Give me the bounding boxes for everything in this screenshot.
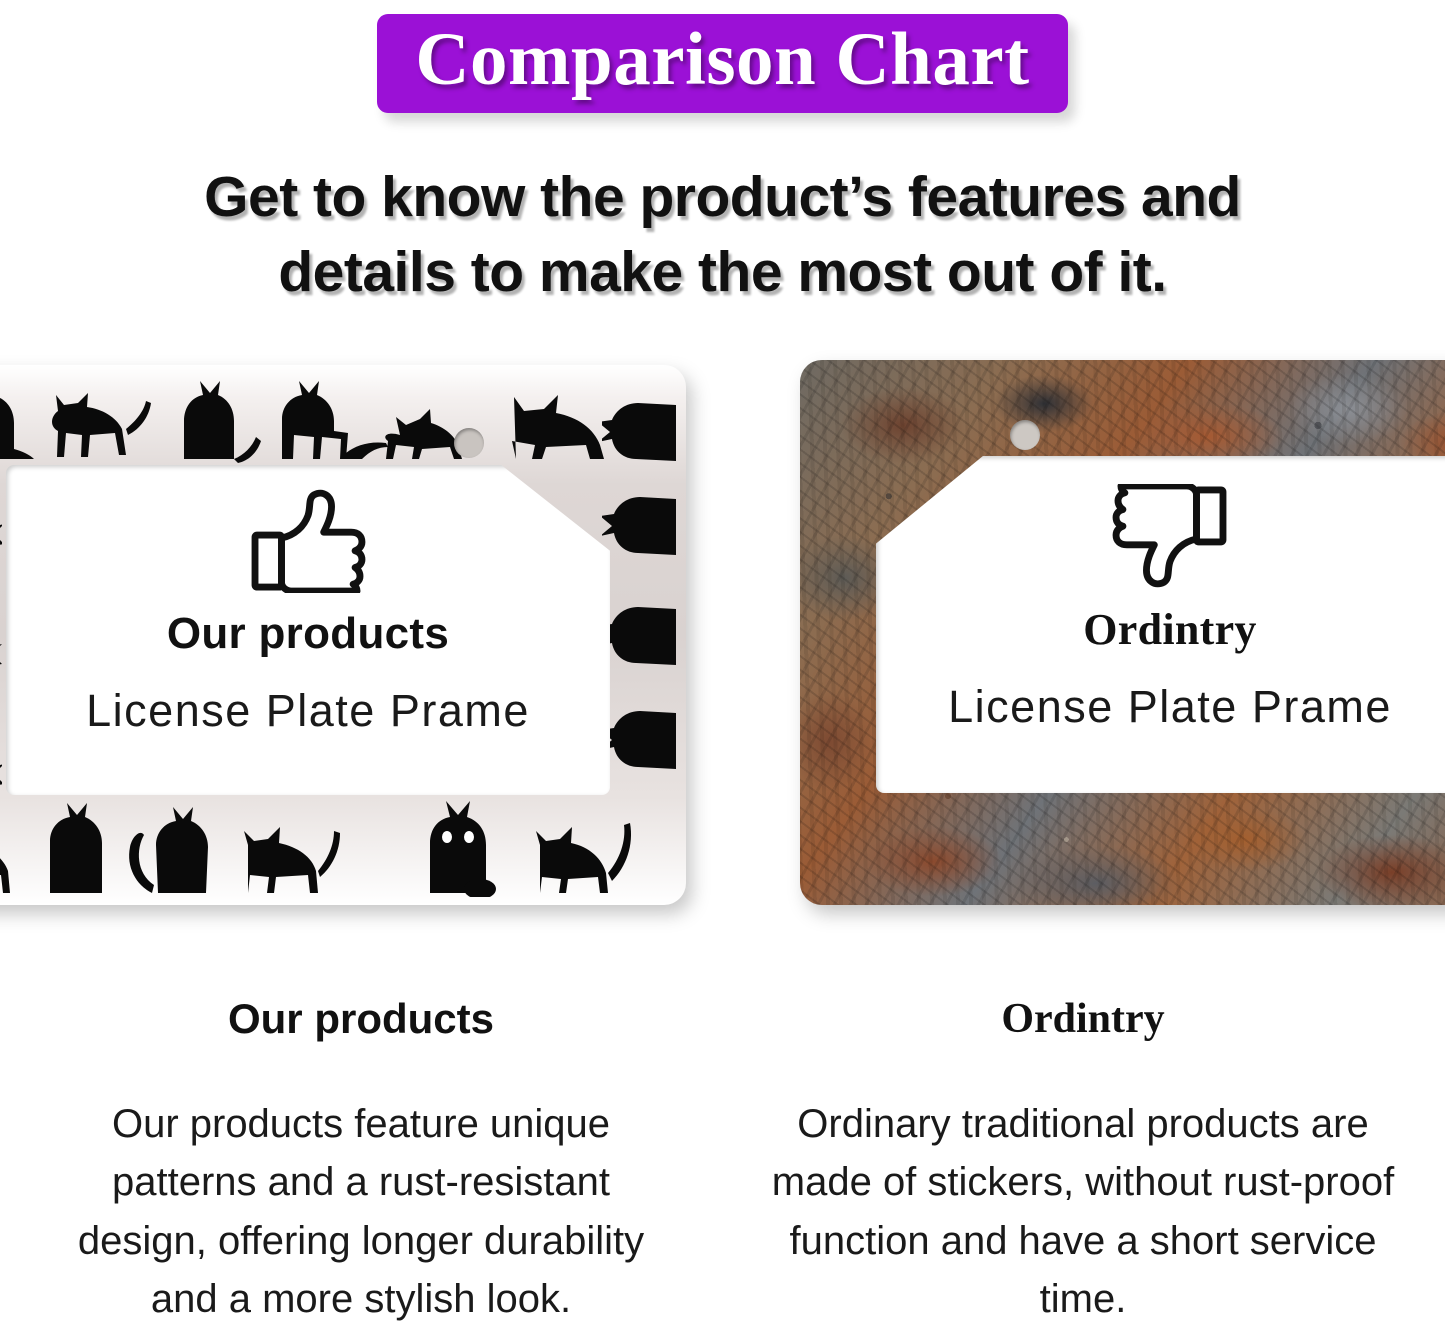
frame-content-right: Ordintry License Plate Prame bbox=[800, 460, 1445, 795]
comparison-descriptions: Our products Our products feature unique… bbox=[0, 995, 1445, 1329]
cat-band-bottom bbox=[0, 797, 686, 897]
product-image-ordintry: Ordintry License Plate Prame bbox=[800, 360, 1445, 905]
frame-label-sub-left: License Plate Prame bbox=[86, 685, 530, 737]
column-heading-our-products: Our products bbox=[44, 995, 678, 1043]
cat-band-top bbox=[0, 371, 686, 463]
thumbs-up-icon bbox=[249, 489, 367, 593]
product-image-our-products: Our products License Plate Prame bbox=[0, 365, 686, 905]
frame-label-main-left: Our products bbox=[167, 609, 449, 659]
screw-hole-icon bbox=[454, 428, 484, 458]
frame-label-main-right: Ordintry bbox=[1083, 604, 1257, 655]
frame-content-left: Our products License Plate Prame bbox=[0, 465, 686, 795]
thumbs-down-icon bbox=[1111, 484, 1229, 588]
screw-hole-icon bbox=[1010, 420, 1040, 450]
description-column-our-products: Our products Our products feature unique… bbox=[0, 995, 722, 1329]
column-body-ordintry: Ordinary traditional products are made o… bbox=[752, 1095, 1414, 1329]
column-heading-ordintry: Ordintry bbox=[752, 995, 1414, 1043]
description-column-ordintry: Ordintry Ordinary traditional products a… bbox=[722, 995, 1444, 1329]
column-body-our-products: Our products feature unique patterns and… bbox=[44, 1095, 678, 1329]
frame-label-sub-right: License Plate Prame bbox=[948, 681, 1392, 733]
product-frames-row: Our products License Plate Prame Ordintr… bbox=[0, 0, 1445, 960]
